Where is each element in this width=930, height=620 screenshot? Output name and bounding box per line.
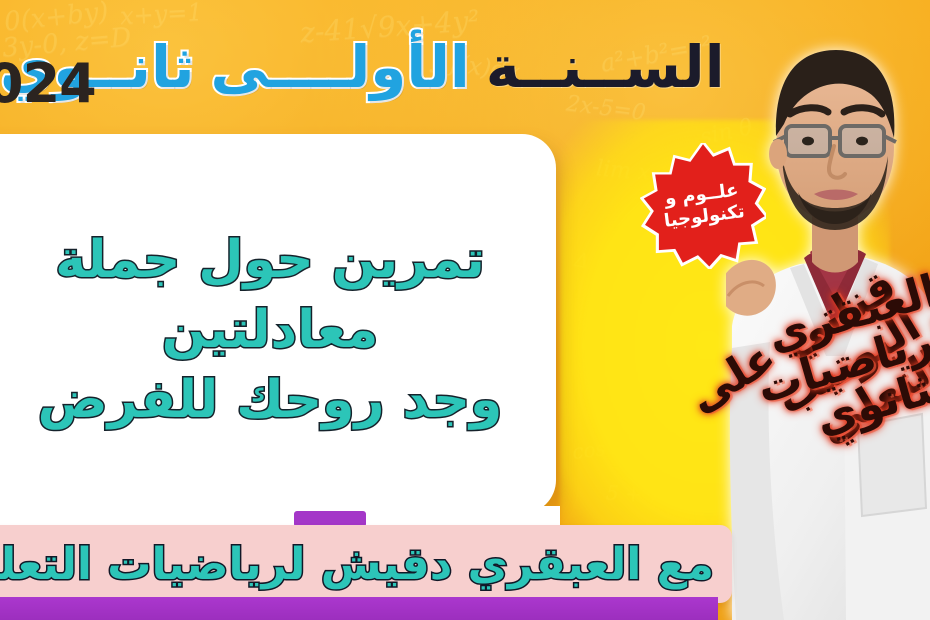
presenter-head: [769, 50, 896, 230]
presenter-eye-right: [856, 137, 868, 146]
header-year-number: 024: [0, 52, 96, 115]
header-word-first: الأولــــى: [211, 38, 470, 96]
exercise-line-1: تمرين حول جملة: [55, 232, 485, 288]
exercise-line-2: معادلتين: [162, 302, 379, 358]
bottom-banner-text: مع العبقري دقيش لرياضيات التعليم الثا: [0, 525, 732, 603]
bottom-purple-strip: [0, 597, 718, 620]
presenter-eye-left: [802, 137, 814, 146]
exercise-line-3: وجد روحك للفرض: [38, 372, 503, 428]
bottom-banner: مع العبقري دقيش لرياضيات التعليم الثا: [0, 525, 732, 603]
header-word-year-label: الســنــة: [486, 38, 725, 96]
exercise-card-text: تمرين حول جملة معادلتين وجد روحك للفرض: [0, 156, 540, 504]
exercise-card: تمرين حول جملة معادلتين وجد روحك للفرض: [0, 134, 556, 514]
thumbnail-canvas: 0(x+by)x+y=13y-0, z=Dz-41√9x+4y²∫ f(x)dx…: [0, 0, 930, 620]
